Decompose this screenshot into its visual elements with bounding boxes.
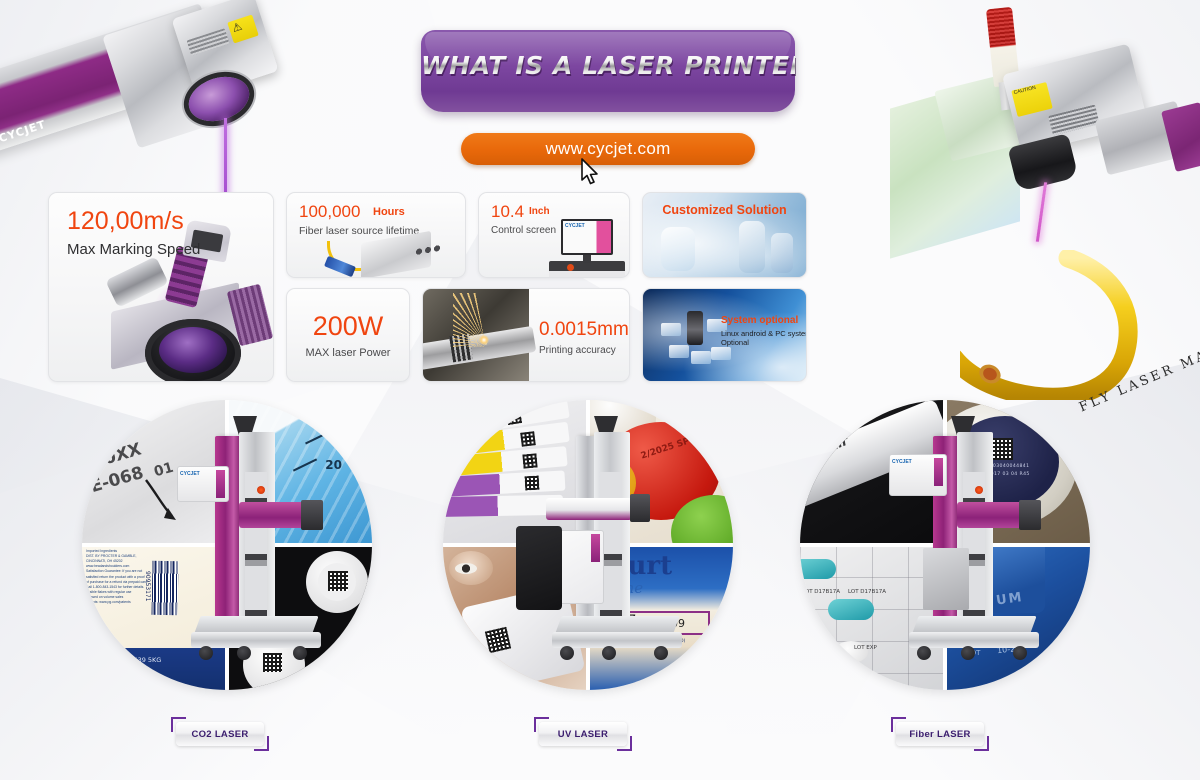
- status-lamp-icon: [257, 486, 265, 494]
- label-fineprint: Imported Ingredients DIST. BY PROCTER & …: [86, 549, 148, 611]
- monitor-logo: CYCJET: [565, 223, 585, 229]
- spec-power-label: MAX laser Power: [287, 347, 409, 359]
- spec-card-system[interactable]: System optional Linux android & PC syste…: [642, 288, 807, 382]
- lot-code: (L) 37075539 5KG: [102, 656, 161, 664]
- spec-lifetime-unit: Hours: [373, 206, 405, 218]
- spec-speed-value: 120,00m/s: [67, 207, 184, 236]
- expiry-code: EXP. 12/2018: [104, 667, 147, 675]
- spec-system-line2: Optional: [721, 338, 749, 347]
- page-title: WHAT IS A LASER PRINTER?: [421, 51, 795, 80]
- spec-card-accuracy[interactable]: 0.0015mm Printing accuracy: [422, 288, 630, 382]
- spec-speed-label: Max Marking Speed: [67, 241, 200, 258]
- robot-arm-2: [739, 221, 765, 273]
- title-banner: WHAT IS A LASER PRINTER?: [421, 30, 795, 112]
- qr-code: [522, 453, 537, 468]
- machine-caster: [654, 646, 668, 660]
- lot-code: LOT D17B17A: [802, 589, 840, 595]
- machine-caster: [293, 646, 307, 660]
- laptop-icon: [661, 323, 681, 336]
- machine-caster: [602, 646, 616, 660]
- spec-card-speed[interactable]: 120,00m/s Max Marking Speed: [48, 192, 274, 382]
- header: WHAT IS A LASER PRINTER? www.cycjet.com: [421, 30, 795, 140]
- application-circle-uv[interactable]: 2/2025 SP ogurt reme 23:07 20609 A CONSO…: [443, 400, 733, 690]
- spec-screen-value: 10.4: [491, 202, 524, 222]
- machine-lens-unit: [630, 494, 650, 522]
- machine-right-laser-beam: [1036, 182, 1047, 242]
- marking-machine-overlay: CYCJET: [181, 410, 301, 678]
- spec-screen-label: Control screen: [491, 225, 556, 236]
- spec-lifetime-value: 100,000: [299, 202, 360, 222]
- status-lamp-icon: [975, 486, 983, 494]
- handheld-device-icon: [687, 311, 703, 345]
- machine-black-module: [516, 526, 562, 610]
- machine-caster: [1013, 646, 1027, 660]
- power-button-icon: [567, 264, 574, 271]
- lot-exp-code: LOT EXP: [854, 645, 877, 651]
- marking-machine-overlay: [542, 410, 662, 678]
- qr-code: [520, 431, 536, 447]
- robot-arm-1: [661, 227, 695, 271]
- barcode: [152, 561, 179, 615]
- machine-caster: [560, 646, 574, 660]
- monitor-stand: [583, 255, 591, 263]
- spec-customized-title: Customized Solution: [643, 203, 806, 217]
- machine-caster: [237, 646, 251, 660]
- datamatrix-code: [328, 571, 348, 591]
- laptop-icon: [691, 351, 711, 364]
- capsule: [800, 559, 836, 579]
- machine-slider-block: [923, 548, 969, 610]
- machine-control-panel: CYCJET: [177, 466, 229, 502]
- robot-arm-3: [771, 233, 793, 273]
- machine-caster: [961, 646, 975, 660]
- circle-caption-fiber[interactable]: Fiber LASER: [896, 722, 984, 746]
- machine-cabinet: [549, 261, 625, 278]
- eye-blur: [455, 563, 477, 574]
- objective-lens-glass: [159, 327, 227, 373]
- spec-accuracy-value: 0.0015mm: [539, 319, 629, 341]
- spec-accuracy-label: Printing accuracy: [539, 345, 616, 356]
- machine-lens-unit: [301, 500, 323, 530]
- circle-caption-uv[interactable]: UV LASER: [539, 722, 627, 746]
- spec-card-screen[interactable]: 10.4 Inch Control screen CYCJET: [478, 192, 630, 278]
- machine-marking-head: [546, 498, 632, 520]
- barcode-number: 90953171: [144, 571, 151, 602]
- spec-card-customized[interactable]: Customized Solution: [642, 192, 807, 278]
- website-url-button[interactable]: www.cycjet.com: [461, 133, 755, 165]
- machine-left-laser-beam: [224, 118, 227, 196]
- machine-control-panel: CYCJET: [889, 454, 947, 496]
- cable-marking-machine-photo: CAUTION: [890, 0, 1200, 270]
- arrow-cursor-icon: [580, 158, 600, 186]
- machine-lens-unit: [1019, 500, 1041, 530]
- scale-text: 30: [344, 430, 362, 445]
- machine-rail: [239, 432, 275, 636]
- spec-system-line1: Linux android & PC system: [721, 329, 807, 338]
- marking-machine-overlay: CYCJET: [899, 410, 1019, 678]
- machine-caster: [917, 646, 931, 660]
- scale-text: 20: [325, 458, 342, 472]
- spec-system-title: System optional: [721, 315, 798, 326]
- machine-right-purple-module: [1161, 102, 1200, 172]
- spec-screen-unit: Inch: [529, 206, 550, 217]
- spec-card-power[interactable]: 200W MAX laser Power: [286, 288, 410, 382]
- engraving-spark-photo: [423, 289, 529, 382]
- application-circle-co2[interactable]: 20XX 01 E-068 30 20 Imported Ingredients…: [82, 400, 372, 690]
- spec-card-lifetime[interactable]: 100,000 Hours Fiber laser source lifetim…: [286, 192, 466, 278]
- lot-code: LOT D17B17A: [848, 589, 886, 595]
- datamatrix-code: [351, 665, 368, 682]
- specification-grid: 120,00m/s Max Marking Speed 100,000 Hour…: [48, 192, 763, 382]
- spec-power-value: 200W: [287, 311, 409, 342]
- panel-logo: CYCJET: [180, 471, 200, 477]
- machine-caster: [199, 646, 213, 660]
- application-circle-fiber[interactable]: venAir 01110051703040044841 SP100 2017 0…: [800, 400, 1090, 690]
- laptop-icon: [711, 347, 731, 360]
- qr-code: [525, 476, 540, 491]
- laser-spot: [479, 335, 489, 345]
- capsule: [828, 599, 874, 620]
- laser-marking-machine-left-photo: CYCJET: [0, 0, 288, 215]
- circle-caption-co2[interactable]: CO2 LASER: [176, 722, 264, 746]
- qr-code: [506, 409, 522, 425]
- laptop-icon: [669, 345, 689, 358]
- yellow-cable-photo: FLY LASER MARKING: [960, 250, 1200, 400]
- panel-logo: CYCJET: [892, 459, 912, 465]
